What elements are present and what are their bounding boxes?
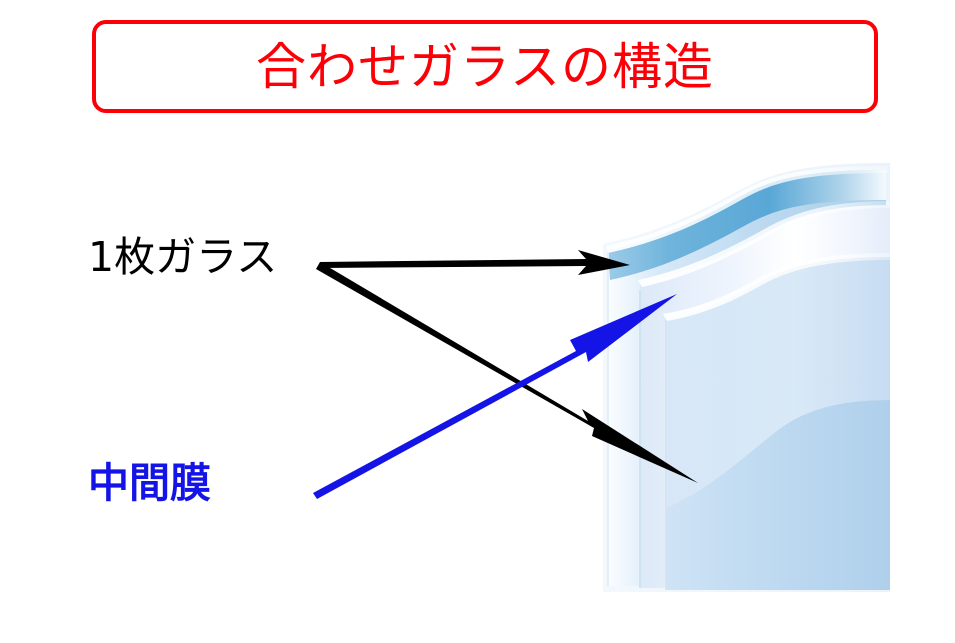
inner-pane-edge-highlight <box>663 253 892 321</box>
label-single-glass: 1枚ガラス <box>88 237 277 278</box>
interlayer-film-edge-highlight <box>638 201 892 287</box>
outer-glass-pane <box>608 170 886 586</box>
label-interlayer: 中間膜 <box>88 463 211 504</box>
title-box: 合わせガラスの構造 <box>92 20 878 113</box>
glass-halo <box>603 163 890 592</box>
outer-pane-accent-band <box>608 170 886 280</box>
page-title: 合わせガラスの構造 <box>256 42 714 92</box>
outer-pane-edge-highlight <box>606 166 888 253</box>
arrow-single-glass-inner <box>316 262 698 483</box>
arrow-interlayer-film <box>313 294 677 499</box>
inner-glass-pane-top <box>665 257 890 508</box>
slide-canvas: 合わせガラスの構造 <box>0 0 955 643</box>
arrow-single-glass-outer <box>320 250 630 275</box>
interlayer-film <box>640 205 890 588</box>
inner-glass-pane <box>665 400 890 590</box>
